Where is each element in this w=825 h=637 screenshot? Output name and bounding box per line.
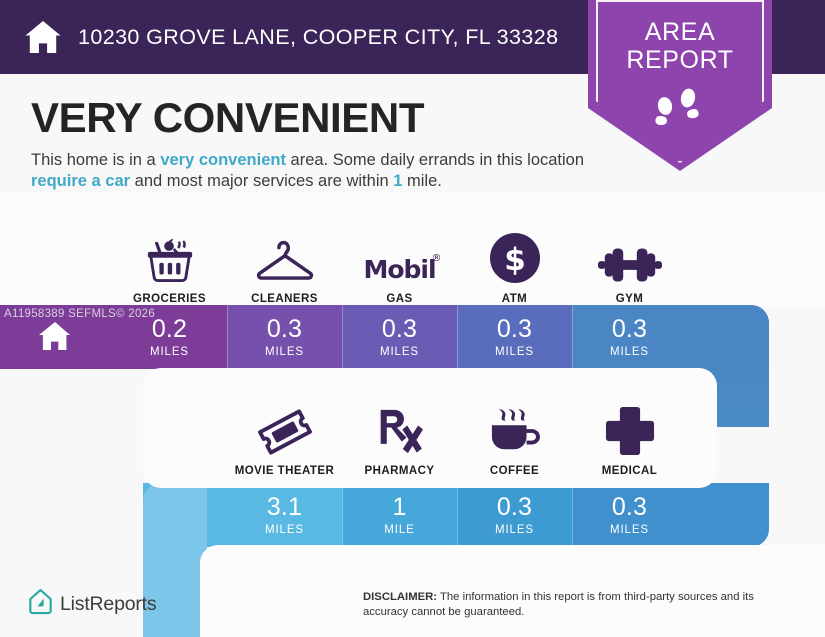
segment-divider [572, 305, 573, 369]
amenity-label: MOVIE THEATER [227, 465, 342, 477]
clothes-hanger-icon [227, 228, 342, 284]
segment-divider [227, 305, 228, 369]
movie-ticket-icon [227, 400, 342, 456]
distance-atm: 0.3MILES [457, 305, 572, 369]
home-marker-icon [38, 321, 72, 351]
mobil-gas-logo: Mobil® [342, 228, 457, 284]
amenity-medical: MEDICAL [572, 400, 687, 477]
summary-text: This home is in a very convenient area. … [31, 150, 587, 192]
amenity-label: PHARMACY [342, 465, 457, 477]
distance-value: 0.3 [267, 317, 302, 342]
summary-highlight-2: require a car [31, 172, 130, 190]
badge-line-2: REPORT [588, 46, 772, 74]
distance-value: 0.3 [497, 317, 532, 342]
distance-medical: 0.3MILES [572, 483, 687, 547]
amenity-groceries: GROCERIES [112, 228, 227, 305]
badge-line-1: AREA [588, 18, 772, 46]
brand-name: ListReports [60, 593, 156, 616]
distance-pharmacy: 1MILE [342, 483, 457, 547]
distance-unit: MILES [610, 346, 649, 358]
disclaimer-label: DISCLAIMER: [363, 591, 437, 603]
segment-divider [342, 483, 343, 547]
amenity-row-top: GROCERIES CLEANERSMobil®GAS $ATM GYM [0, 228, 825, 306]
distance-unit: MILES [610, 524, 649, 536]
amenity-pharmacy: PHARMACY [342, 400, 457, 477]
footprints-icon [652, 84, 708, 134]
medical-cross-icon [572, 400, 687, 456]
distance-coffee: 0.3MILES [457, 483, 572, 547]
header-content: 10230 GROVE LANE, COOPER CITY, FL 33328 [24, 0, 558, 74]
distance-unit: MILE [384, 524, 414, 536]
distance-unit: MILES [150, 346, 189, 358]
summary-part-2: area. Some daily errands in this locatio… [286, 151, 584, 169]
amenity-label: CLEANERS [227, 293, 342, 305]
coffee-cup-icon [457, 400, 572, 456]
distance-gym: 0.3MILES [572, 305, 687, 369]
amenity-label: GAS [342, 293, 457, 305]
distance-value: 0.3 [612, 317, 647, 342]
amenity-movie-theater: MOVIE THEATER [227, 400, 342, 477]
amenity-label: COFFEE [457, 465, 572, 477]
svg-text:$: $ [504, 242, 526, 278]
atm-dollar-icon: $ [457, 228, 572, 284]
distance-bar-bottom: 3.1MILES1MILE0.3MILES0.3MILES [143, 483, 769, 547]
amenity-label: GYM [572, 293, 687, 305]
amenity-coffee: COFFEE [457, 400, 572, 477]
mobil-gas-logo: Mobil® [363, 255, 435, 284]
distance-unit: MILES [495, 346, 534, 358]
amenity-cleaners: CLEANERS [227, 228, 342, 305]
distance-movie-theater: 3.1MILES [227, 483, 342, 547]
bar-tail-fill [687, 305, 769, 369]
grocery-basket-icon [112, 228, 227, 284]
segment-divider [457, 483, 458, 547]
page-title: VERY CONVENIENT [31, 94, 424, 142]
amenity-label: MEDICAL [572, 465, 687, 477]
summary-part-1: This home is in a [31, 151, 160, 169]
distance-value: 0.2 [152, 317, 187, 342]
segment-divider [457, 305, 458, 369]
summary-part-4: mile. [402, 172, 441, 190]
amenity-row-bottom: MOVIE THEATER PHARMACY COFFEEMEDICAL [0, 400, 825, 480]
amenity-atm: $ATM [457, 228, 572, 305]
distance-unit: MILES [265, 346, 304, 358]
badge-title: AREA REPORT [588, 18, 772, 74]
distance-value: 1 [392, 495, 406, 520]
rx-prescription-icon [342, 400, 457, 456]
dumbbell-icon [572, 228, 687, 284]
amenity-gym: GYM [572, 228, 687, 305]
distance-value: 0.3 [497, 495, 532, 520]
segment-divider [572, 483, 573, 547]
amenity-label: GROCERIES [112, 293, 227, 305]
disclaimer: DISCLAIMER: The information in this repo… [363, 590, 793, 621]
distance-value: 0.3 [612, 495, 647, 520]
distance-unit: MILES [380, 346, 419, 358]
listreports-house-icon [28, 588, 53, 620]
distance-gas: 0.3MILES [342, 305, 457, 369]
bar-tail-fill [687, 483, 769, 547]
summary-part-3: and most major services are within [130, 172, 393, 190]
distance-value: 3.1 [267, 495, 302, 520]
distance-unit: MILES [265, 524, 304, 536]
summary-highlight-1: very convenient [160, 151, 286, 169]
ribbon-bottom-elbow [143, 483, 207, 547]
property-address: 10230 GROVE LANE, COOPER CITY, FL 33328 [78, 25, 558, 50]
home-icon [24, 20, 62, 54]
amenity-label: ATM [457, 293, 572, 305]
segment-divider [342, 305, 343, 369]
distance-unit: MILES [495, 524, 534, 536]
distance-cleaners: 0.3MILES [227, 305, 342, 369]
amenity-gas: Mobil®GAS [342, 228, 457, 305]
area-report-badge: AREA REPORT [588, 0, 772, 171]
distance-value: 0.3 [382, 317, 417, 342]
mls-watermark: A11958389 SEFMLS© 2026 [4, 308, 155, 320]
area-report-page: 10230 GROVE LANE, COOPER CITY, FL 33328 … [0, 0, 825, 637]
brand-logo[interactable]: ListReports [28, 588, 156, 620]
